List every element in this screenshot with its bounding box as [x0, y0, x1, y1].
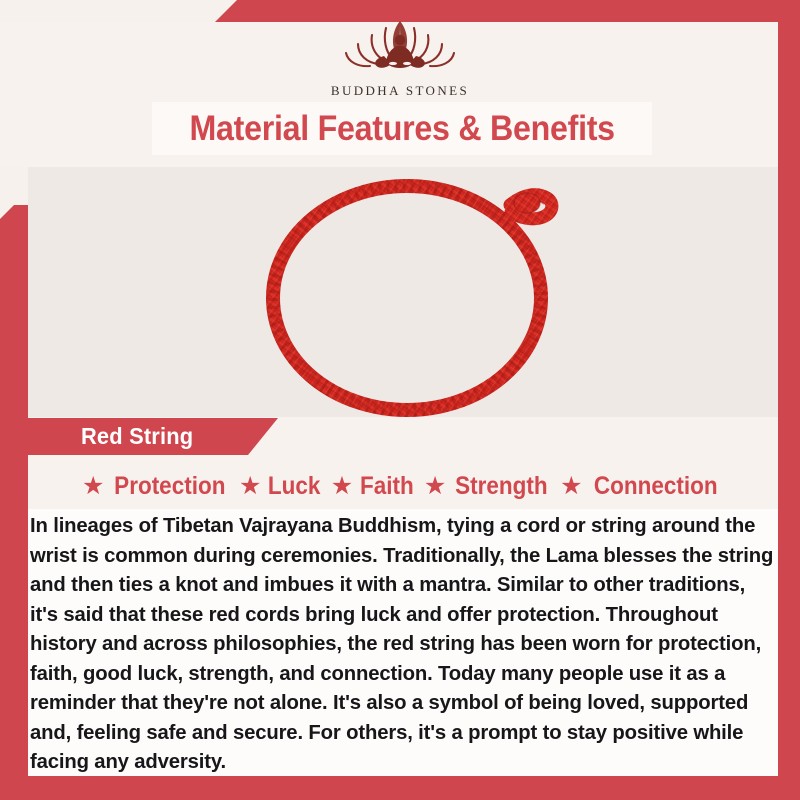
star-icon: ★ [331, 474, 353, 499]
product-description: In lineages of Tibetan Vajrayana Buddhis… [30, 512, 774, 778]
feature-label: Luck [268, 472, 321, 501]
feature-label: Protection [115, 472, 226, 501]
feature-item-protection: ★ Protection [82, 472, 232, 501]
product-image-red-string-bracelet [255, 170, 575, 418]
page-title: Material Features & Benefits [152, 102, 652, 155]
product-infographic: BUDDHA STONES Material Features & Benefi… [0, 0, 800, 800]
star-icon: ★ [424, 474, 446, 499]
feature-item-faith: ★ Faith [331, 472, 417, 501]
feature-item-luck: ★ Luck [239, 472, 324, 501]
decorative-bottom-border [0, 776, 800, 800]
feature-label: Faith [360, 472, 414, 501]
feature-list: ★ Protection ★ Luck ★ Faith ★ Strength ★… [28, 466, 778, 506]
feature-label: Strength [455, 472, 548, 501]
lotus-meditation-icon [334, 14, 466, 80]
star-icon: ★ [239, 474, 261, 499]
decorative-left-border [0, 205, 28, 800]
product-label-text: Red String [81, 423, 193, 450]
brand-logo: BUDDHA STONES [0, 14, 800, 99]
feature-label: Connection [593, 472, 717, 501]
product-label-ribbon: Red String [28, 418, 278, 455]
brand-name: BUDDHA STONES [331, 83, 469, 99]
feature-item-connection: ★ Connection [560, 472, 724, 501]
page-title-text: Material Features & Benefits [189, 109, 614, 149]
star-icon: ★ [82, 474, 104, 499]
star-icon: ★ [560, 474, 582, 499]
feature-item-strength: ★ Strength [424, 472, 553, 501]
decorative-right-border [778, 0, 800, 800]
